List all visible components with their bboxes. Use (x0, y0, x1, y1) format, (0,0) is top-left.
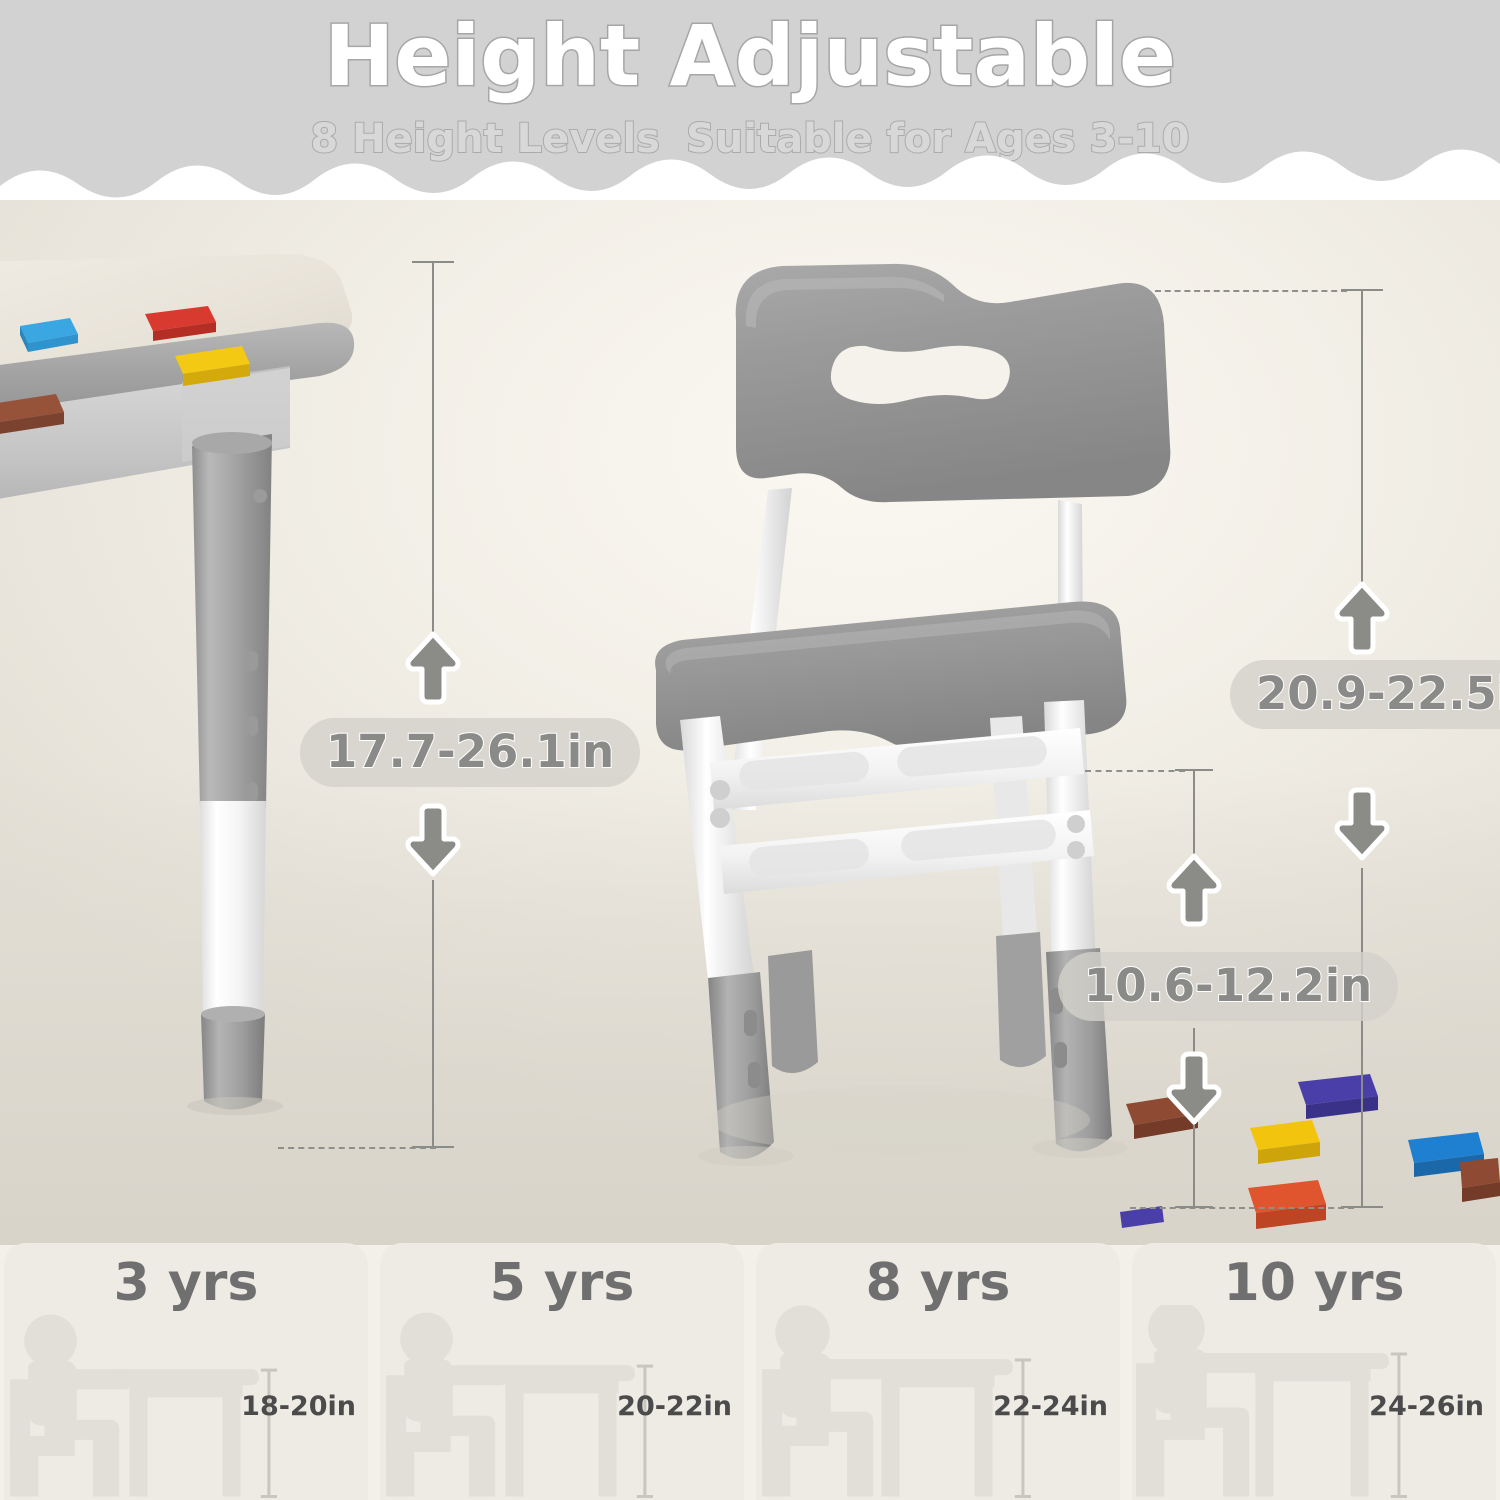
scattered-blocks-group (1090, 1070, 1500, 1245)
chair-leg-hole-fl-2 (748, 1062, 761, 1088)
child-leg (796, 1412, 873, 1497)
child-head (400, 1313, 453, 1366)
age-card-dimension: 22-24in (993, 1391, 1108, 1422)
table-leg-collar (192, 432, 272, 454)
chair-total-height-label: 20.9-22.5in (1230, 660, 1500, 729)
table-apron-icon (1255, 1367, 1370, 1381)
chair-seat-icon (762, 1426, 829, 1446)
age-dimension-line (637, 1366, 653, 1496)
table-leg-hole-3 (246, 782, 258, 802)
age-card-5yrs: 5 yrs (380, 1243, 744, 1500)
infographic-canvas: 17.7-26.1in 20.9-22.5in (0, 0, 1500, 1500)
chair-leg-hole-fl-1 (744, 1010, 757, 1036)
chair-ground-shadow (710, 1086, 1090, 1154)
header-banner: Height Adjustable 8 Height LevelsSuitabl… (0, 0, 1500, 200)
age-card-dimension: 24-26in (1369, 1391, 1484, 1422)
chair-total-dim-line-lower (1361, 868, 1363, 1208)
table-leg-right-icon (222, 1383, 240, 1496)
child-head (24, 1315, 77, 1368)
arrow-up-icon (404, 628, 462, 706)
table-top-icon (1237, 1353, 1389, 1369)
chair-shadow-left (698, 1146, 794, 1166)
chair-leg-cap-rear-right (996, 932, 1046, 1067)
age-card-3yrs: 3 yrs (4, 1243, 368, 1500)
chair-total-dash-top (1155, 290, 1347, 292)
chair-seat-height-label: 10.6-12.2in (1058, 952, 1398, 1021)
table-apron-icon (881, 1373, 994, 1387)
table-leg-white-section (200, 801, 266, 1018)
age-card-8yrs: 8 yrs (756, 1243, 1120, 1500)
table-top-icon (487, 1365, 635, 1381)
arrow-down-icon (404, 802, 462, 880)
chair-total-dim-cap-top (1341, 289, 1383, 291)
table-dim-line-upper (432, 262, 434, 632)
table-top-icon (863, 1359, 1013, 1375)
chair-leg-icon (776, 1440, 790, 1497)
chair-screw-4 (1067, 841, 1085, 859)
scallop-divider (0, 142, 1500, 200)
table-foot-cap-rim (201, 1006, 265, 1022)
chair-handle-cutout (831, 346, 1010, 404)
table-top-icon (111, 1369, 259, 1385)
age-card-dimension: 20-22in (617, 1391, 732, 1422)
block-purple-2 (1120, 1206, 1164, 1228)
table-apron-icon (129, 1383, 242, 1397)
age-dimension-line (261, 1370, 277, 1496)
table-leg-left-icon (129, 1383, 147, 1496)
table-leg-left-icon (881, 1373, 899, 1496)
table-leg-foot-cap (201, 1014, 265, 1110)
table-leg-right-icon (1350, 1367, 1368, 1496)
seat-dim-cap-bottom (1175, 1206, 1213, 1208)
chair-leg-icon (1150, 1434, 1164, 1497)
chair-leg-icon (400, 1446, 414, 1497)
age-card-title: 10 yrs (1132, 1253, 1496, 1313)
age-card-10yrs: 10 yrs (1132, 1243, 1496, 1500)
table-dim-line-lower (432, 880, 434, 1148)
table-leg-right-icon (974, 1373, 992, 1496)
age-card-title: 8 yrs (756, 1253, 1120, 1313)
chair-screw-3 (1067, 815, 1085, 833)
page-title: Height Adjustable (0, 14, 1500, 100)
seat-dash-top (1085, 770, 1185, 772)
chair-total-dim-line-upper (1361, 290, 1363, 586)
table-foot-shadow (187, 1097, 283, 1115)
block-yellow-2 (1250, 1120, 1320, 1164)
table-dim-dash-bottom (278, 1147, 436, 1149)
table-leg-adjust-button (253, 489, 267, 503)
age-card-title: 3 yrs (4, 1253, 368, 1313)
chair-screw-2 (710, 808, 730, 828)
arrow-up-icon (1333, 578, 1391, 656)
arrow-down-icon (1165, 1050, 1223, 1128)
kids-table-illustration (0, 196, 460, 1196)
child-leg (44, 1420, 119, 1497)
block-brown-3 (1460, 1158, 1500, 1202)
chair-seat-icon (1136, 1420, 1205, 1440)
table-dim-cap-top (412, 261, 454, 263)
chair-leg-icon (24, 1450, 38, 1497)
chair-seat-icon (386, 1432, 451, 1452)
age-card-dimension: 18-20in (241, 1391, 356, 1422)
table-height-label: 17.7-26.1in (300, 718, 640, 787)
arrow-down-icon (1333, 786, 1391, 864)
seat-dim-line-upper (1193, 770, 1195, 860)
table-leg-right-icon (598, 1379, 616, 1496)
age-dimension-line (1391, 1354, 1407, 1497)
table-leg-hole-1 (246, 651, 258, 671)
table-apron-icon (505, 1379, 618, 1393)
chair-seat-icon (10, 1436, 75, 1456)
age-recommendation-row: 3 yrs (0, 1243, 1500, 1500)
table-leg-left-icon (505, 1379, 523, 1496)
chair-screw-1 (710, 780, 730, 800)
child-head (775, 1305, 830, 1360)
kids-chair-illustration (560, 250, 1180, 1240)
chair-leg-hole-fr-2 (1054, 1042, 1067, 1068)
child-leg (420, 1416, 495, 1497)
table-leg-hole-2 (246, 716, 258, 736)
table-leg-left-icon (1255, 1367, 1273, 1496)
block-orange-1 (1248, 1180, 1326, 1229)
age-card-title: 5 yrs (380, 1253, 744, 1313)
chair-total-dash-bottom (1130, 1207, 1354, 1209)
chair-leg-cap-rear-left (768, 950, 818, 1073)
block-purple-1 (1298, 1074, 1378, 1119)
age-dimension-line (1015, 1360, 1031, 1497)
arrow-up-icon (1165, 850, 1223, 928)
